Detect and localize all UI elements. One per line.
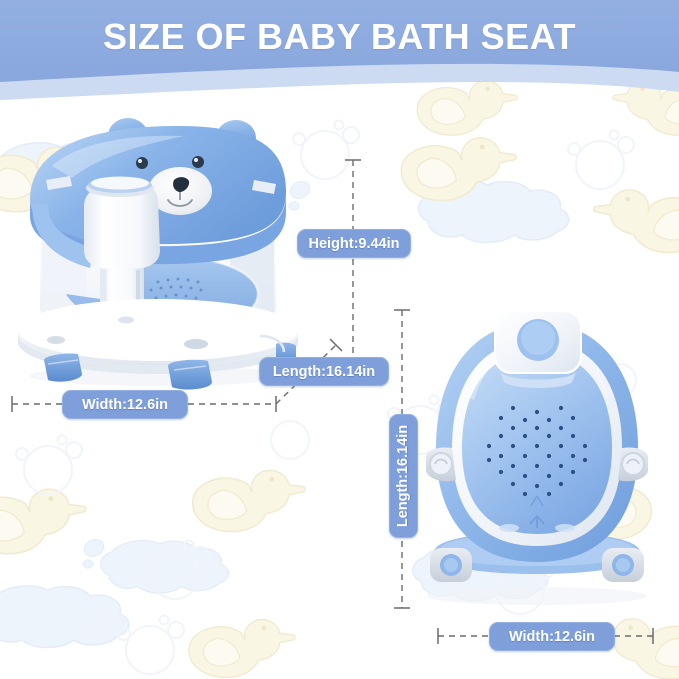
- label-height-front: Height:9.44in: [297, 229, 411, 258]
- label-length-top-text: Length:16.14in: [396, 425, 412, 527]
- label-width-front: Width:12.6in: [62, 390, 188, 419]
- base-slot-left: [47, 336, 65, 344]
- page-title: SIZE OF BABY BATH SEAT: [0, 16, 679, 58]
- bear-eye-right: [192, 156, 204, 168]
- baby-bath-seat-top-view: [404, 300, 670, 620]
- seat-surface: [462, 352, 612, 534]
- infographic-canvas: SIZE OF BABY BATH SEAT: [0, 0, 679, 679]
- suction-foot-left: [44, 353, 82, 381]
- label-width-top-text: Width:12.6in: [509, 629, 595, 645]
- label-length-front-text: Length:16.14in: [273, 364, 375, 380]
- suction-foot-rear-left: [430, 548, 472, 582]
- side-handle-left: [426, 447, 456, 481]
- baby-bath-seat-front-view: [8, 108, 308, 398]
- side-handle-right: [618, 447, 648, 481]
- bear-eye-left: [136, 157, 148, 169]
- base-slot-right: [184, 339, 208, 349]
- header-banner: SIZE OF BABY BATH SEAT: [0, 0, 679, 108]
- label-length-front: Length:16.14in: [259, 357, 389, 386]
- label-width-front-text: Width:12.6in: [82, 397, 168, 413]
- label-width-top: Width:12.6in: [489, 622, 615, 651]
- suction-foot-center: [168, 360, 212, 390]
- suction-foot-rear-right: [602, 548, 644, 582]
- label-length-top: Length:16.14in: [389, 414, 418, 538]
- ground-shadow-top: [427, 587, 647, 605]
- label-height-front-text: Height:9.44in: [308, 236, 399, 252]
